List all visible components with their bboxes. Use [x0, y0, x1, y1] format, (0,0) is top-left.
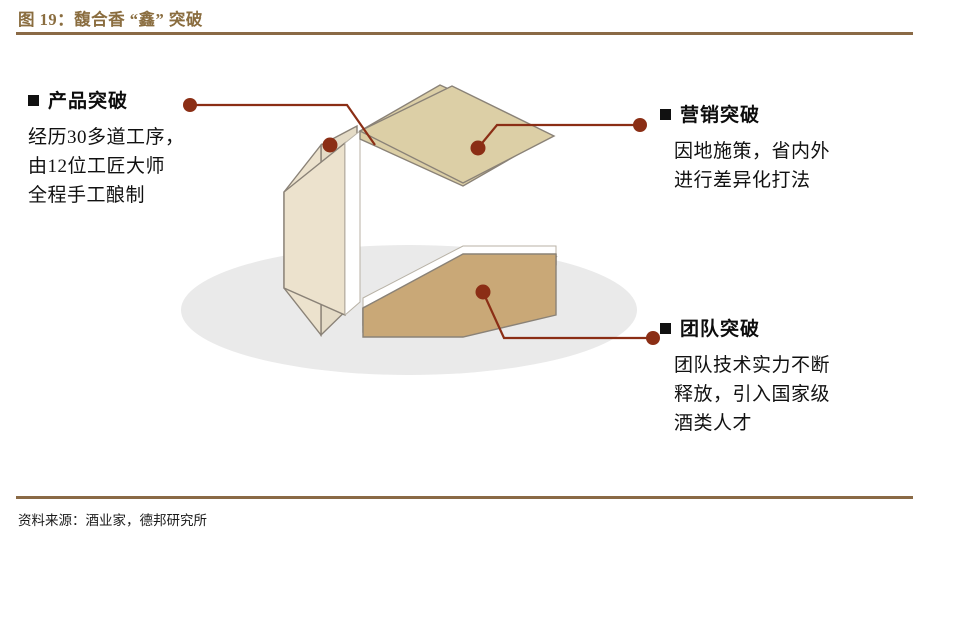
source-divider-rule [16, 496, 913, 499]
cube-gap-vertical [345, 131, 360, 315]
callout-product-heading: 产品突破 [28, 92, 278, 113]
callout-marketing-heading: 营销突破 [660, 106, 940, 127]
square-bullet-icon [660, 323, 671, 334]
callout-product-body: 经历30多道工序， 由12位工匠大师 全程手工酿制 [28, 124, 278, 211]
callout-marketing-heading-text: 营销突破 [680, 105, 760, 126]
callout-product: 产品突破 经历30多道工序， 由12位工匠大师 全程手工酿制 [28, 92, 278, 211]
square-bullet-icon [28, 95, 39, 106]
square-bullet-icon [660, 109, 671, 120]
isometric-cube [284, 85, 556, 337]
connector-marketing-endpoint-dot [633, 118, 647, 132]
connector-team-endpoint-dot [646, 331, 660, 345]
callout-team-heading: 团队突破 [660, 320, 950, 341]
cube-face-left-main [284, 143, 345, 315]
callout-team-body: 团队技术实力不断 释放，引入国家级 酒类人才 [674, 352, 950, 439]
source-note: 资料来源：酒业家，德邦研究所 [18, 509, 207, 529]
connector-team-anchor-dot [476, 285, 491, 300]
page-title: 图 19：馥合香 “鑫” 突破 [18, 6, 203, 30]
cube-face-top-main [360, 86, 554, 183]
title-divider-rule [16, 32, 913, 35]
figure-container: 图 19：馥合香 “鑫” 突破 [0, 0, 977, 618]
callout-marketing: 营销突破 因地施策，省内外 进行差异化打法 [660, 106, 940, 196]
callout-team: 团队突破 团队技术实力不断 释放，引入国家级 酒类人才 [660, 320, 950, 439]
callout-product-heading-text: 产品突破 [48, 91, 128, 112]
connector-marketing-anchor-dot [471, 141, 486, 156]
connector-product-anchor-dot [323, 138, 338, 153]
callout-marketing-body: 因地施策，省内外 进行差异化打法 [674, 138, 940, 196]
callout-team-heading-text: 团队突破 [680, 319, 760, 340]
